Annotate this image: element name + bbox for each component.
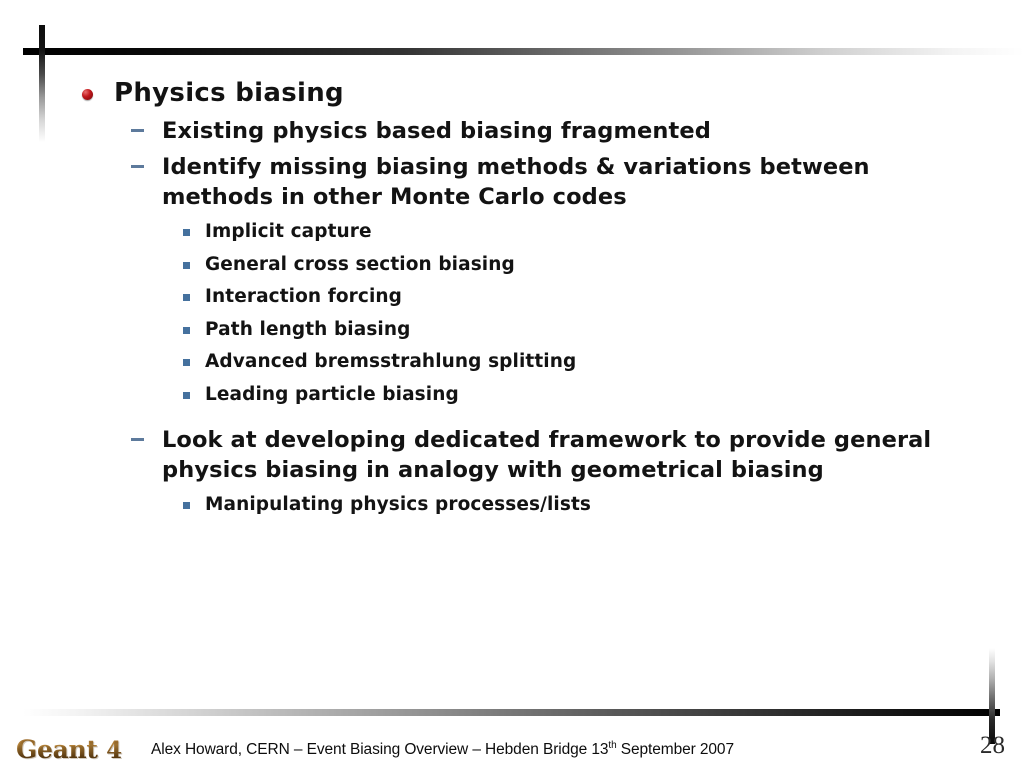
- top-horizontal-rule-decoration: [23, 48, 1024, 55]
- square-bullet-icon: [183, 392, 190, 399]
- bullet-level3-text: Path length biasing: [205, 319, 411, 340]
- bullet-level3-text: Advanced bremsstrahlung splitting: [205, 351, 576, 372]
- bullet-level3-text: Interaction forcing: [205, 286, 402, 307]
- bullet-level3-text: Leading particle biasing: [205, 384, 459, 405]
- geant4-logo-word: Geant: [16, 735, 98, 764]
- square-bullet-icon: [183, 327, 190, 334]
- bullet-level2-text: Existing physics based biasing fragmente…: [162, 118, 711, 144]
- bullet-level3-leading-particle-biasing: Leading particle biasing: [0, 379, 1024, 412]
- geant4-logo-number: 4: [106, 737, 122, 764]
- bottom-horizontal-rule-decoration: [23, 709, 1000, 716]
- dash-bullet-icon: [131, 438, 144, 441]
- square-bullet-icon: [183, 229, 190, 236]
- slide-body-content: Physics biasing Existing physics based b…: [0, 78, 1024, 522]
- bottom-vertical-rule-decoration: [989, 648, 995, 744]
- bullet-level2-look-at-developing: Look at developing dedicated framework t…: [0, 425, 1024, 485]
- bullet-level3-group-framework: Manipulating physics processes/lists: [0, 489, 1024, 522]
- bullet-level3-group-methods: Implicit capture General cross section b…: [0, 216, 1024, 411]
- bullet-level3-advanced-bremsstrahlung: Advanced bremsstrahlung splitting: [0, 346, 1024, 379]
- bullet-level1-physics-biasing: Physics biasing: [0, 78, 1024, 108]
- geant4-logo: Geant 4: [16, 736, 122, 765]
- slide-canvas: Physics biasing Existing physics based b…: [0, 0, 1024, 768]
- page-number: 28: [980, 732, 1005, 760]
- square-bullet-icon: [183, 502, 190, 509]
- footer-attribution-suffix: September 2007: [617, 741, 734, 758]
- bullet-level3-implicit-capture: Implicit capture: [0, 216, 1024, 249]
- bullet-level3-manipulating-physics: Manipulating physics processes/lists: [0, 489, 1024, 522]
- bullet-level3-interaction-forcing: Interaction forcing: [0, 281, 1024, 314]
- square-bullet-icon: [183, 359, 190, 366]
- sphere-bullet-icon: [82, 89, 93, 100]
- footer-attribution-ordinal: th: [608, 740, 616, 751]
- content-spacer: [0, 411, 1024, 419]
- bullet-level2-identify-missing: Identify missing biasing methods & varia…: [0, 152, 1024, 212]
- dash-bullet-icon: [131, 165, 144, 168]
- bullet-level3-text: Implicit capture: [205, 221, 372, 242]
- bullet-level3-general-cross-section: General cross section biasing: [0, 249, 1024, 282]
- bullet-level2-existing-physics: Existing physics based biasing fragmente…: [0, 116, 1024, 146]
- square-bullet-icon: [183, 262, 190, 269]
- bullet-level2-text: Look at developing dedicated framework t…: [162, 427, 931, 483]
- footer-attribution: Alex Howard, CERN – Event Biasing Overvi…: [151, 740, 734, 760]
- square-bullet-icon: [183, 294, 190, 301]
- dash-bullet-icon: [131, 129, 144, 132]
- bullet-level2-text: Identify missing biasing methods & varia…: [162, 154, 870, 210]
- bullet-level3-text: Manipulating physics processes/lists: [205, 494, 591, 515]
- footer-attribution-prefix: Alex Howard, CERN – Event Biasing Overvi…: [151, 741, 608, 758]
- bullet-level3-text: General cross section biasing: [205, 254, 515, 275]
- bullet-level1-text: Physics biasing: [114, 78, 344, 108]
- bullet-level3-path-length-biasing: Path length biasing: [0, 314, 1024, 347]
